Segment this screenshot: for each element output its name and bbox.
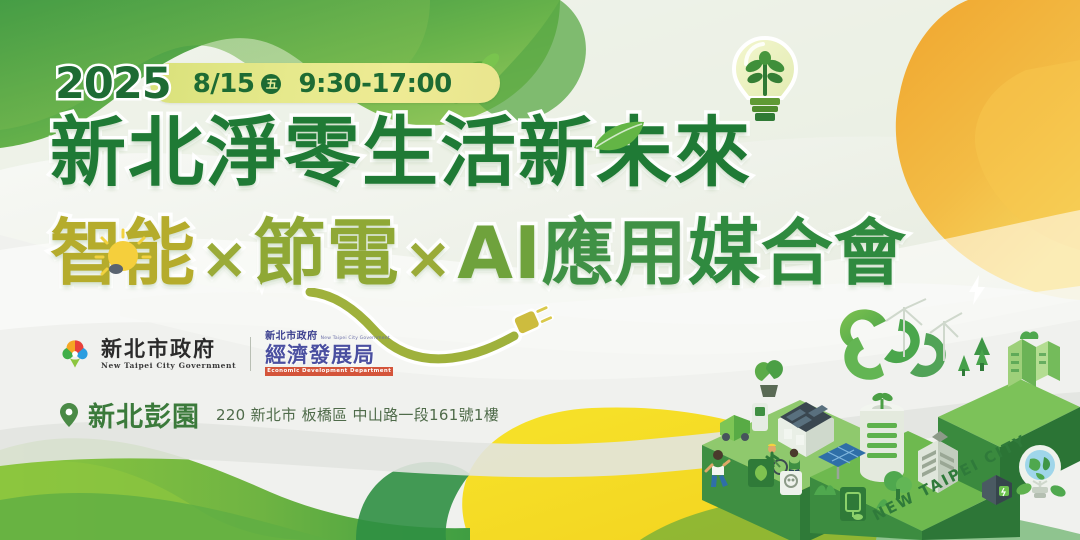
event-date-row: 2025 8/15 五 9:30-17:00	[55, 60, 452, 108]
potted-plant	[755, 360, 783, 397]
city-logo-text: 新北市政府 New Taipei City Government	[101, 338, 236, 370]
location-pin-icon	[60, 403, 78, 427]
subtitle-separator-2: ×	[400, 217, 458, 299]
event-year: 2025	[55, 60, 171, 108]
dept-parent-line: 新北市政府 New Taipei City Government	[265, 332, 393, 342]
subtitle-part-saving: 節電	[254, 212, 400, 294]
city-name-cn: 新北市政府	[101, 338, 236, 359]
venue-row: 新北彭園 220 新北市 板橋區 中山路一段161號1樓	[60, 395, 499, 434]
page-subtitle: 智能 × 節電 × AI 應用 媒合會	[50, 212, 907, 299]
venue-address: 220 新北市 板橋區 中山路一段161號1樓	[216, 404, 499, 425]
promotional-banner: 2025 8/15 五 9:30-17:00 新北淨零生活新未來 智能 × 節電…	[0, 0, 1080, 540]
dept-name-cn: 經濟發展局	[265, 344, 393, 365]
sun-icon	[92, 226, 154, 284]
economic-development-department-logo: 新北市政府 New Taipei City Government 經濟發展局 E…	[265, 332, 393, 376]
lightning-bolt-icon	[966, 274, 988, 306]
subtitle-part-application: 應用	[542, 212, 688, 294]
new-taipei-city-emblem-icon	[58, 337, 92, 371]
venue-name: 新北彭園	[88, 395, 200, 434]
wall-leaf-icon	[748, 459, 774, 487]
dept-name-en: Economic Development Department	[265, 367, 393, 376]
event-weekday-badge: 五	[261, 74, 281, 94]
event-date: 8/15	[193, 60, 255, 108]
organizer-logos: 新北市政府 New Taipei City Government 新北市政府 N…	[58, 332, 393, 376]
leaf-accent-icon	[590, 118, 648, 158]
event-datetime: 8/15 五 9:30-17:00	[193, 60, 452, 108]
wall-battery-icon	[840, 487, 866, 521]
subtitle-part-matchmaking: 媒合會	[688, 212, 907, 294]
wall-socket-icon	[780, 471, 802, 495]
logo-divider	[250, 337, 251, 371]
isometric-city-illustration: NEW TAIPEI CITY	[690, 295, 1080, 540]
subtitle-part-ai: AI	[457, 212, 542, 294]
dept-parent-cn: 新北市政府	[265, 332, 318, 342]
city-name-en: New Taipei City Government	[101, 362, 236, 370]
battery	[860, 391, 904, 482]
trees	[958, 337, 990, 376]
event-time: 9:30-17:00	[298, 60, 451, 108]
subtitle-separator-1: ×	[196, 217, 254, 299]
green-buildings	[1008, 331, 1060, 387]
recycle-symbol	[840, 309, 946, 379]
new-taipei-city-government-logo: 新北市政府 New Taipei City Government	[58, 337, 236, 371]
